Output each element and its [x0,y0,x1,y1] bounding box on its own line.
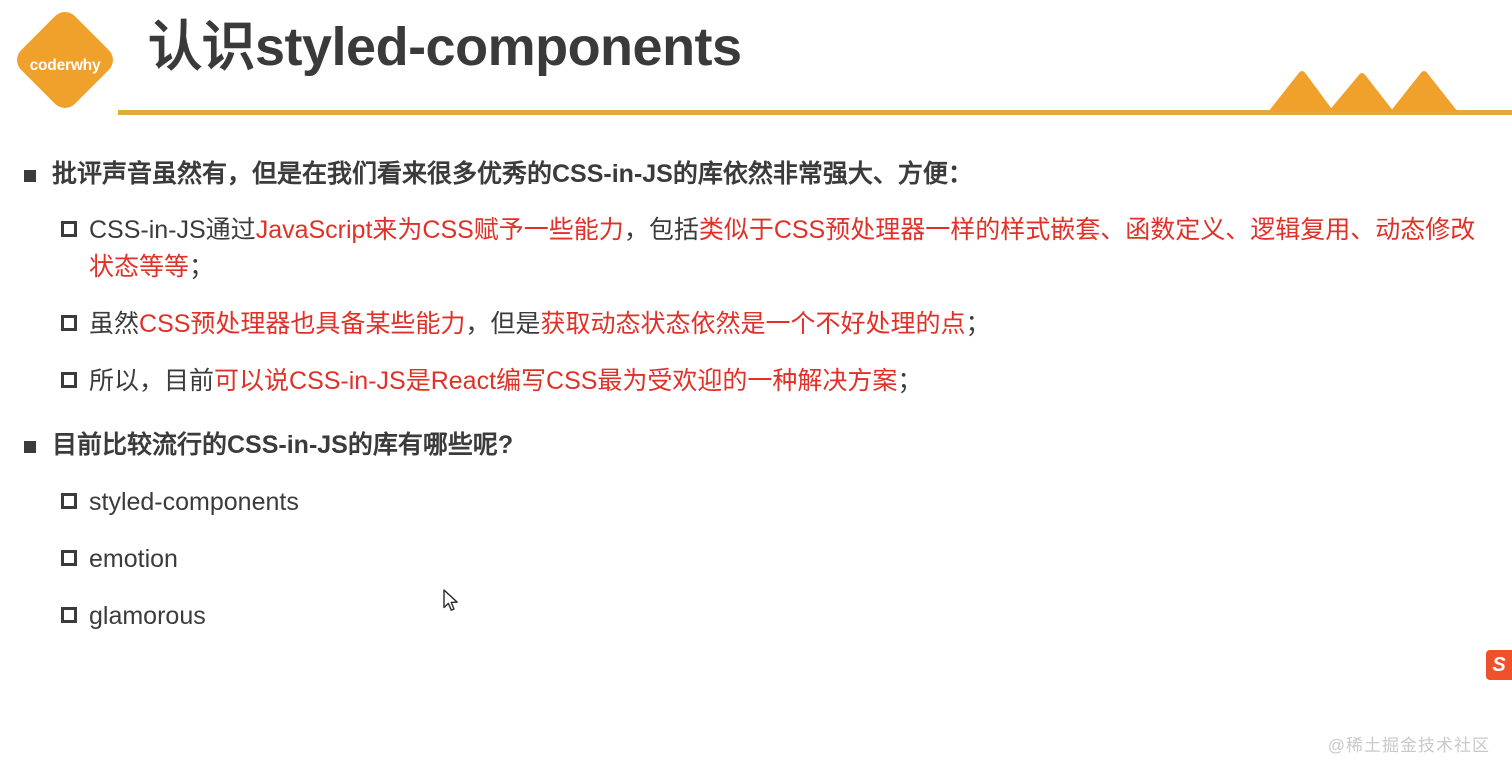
bullet-level2-cssinjs-javascript: CSS-in-JS通过JavaScript来为CSS赋予一些能力，包括类似于CS… [0,212,1512,285]
text-run: CSS-in-JS通过 [89,216,256,244]
square-bullet-icon [24,170,36,182]
bullet-level1-text: 目前比较流行的CSS-in-JS的库有哪些呢? [52,431,513,459]
bullet-level1-popular-libraries: 目前比较流行的CSS-in-JS的库有哪些呢? [0,430,1512,461]
hollow-square-bullet-icon [61,607,77,623]
bullet-level2-glamorous: glamorous [0,598,1512,634]
hollow-square-bullet-icon [61,550,77,566]
hollow-square-bullet-icon [61,493,77,509]
bullet-level2-text: CSS-in-JS通过JavaScript来为CSS赋予一些能力，包括类似于CS… [89,216,1475,280]
text-run: emotion [89,545,178,573]
text-run: 虽然 [89,310,139,338]
highlighted-text-run: 可以说CSS-in-JS是React编写CSS最为受欢迎的一种解决方案 [214,367,897,395]
bullet-level2-styled-components: styled-components [0,484,1512,520]
bullet-level2-text: 所以，目前可以说CSS-in-JS是React编写CSS最为受欢迎的一种解决方案… [89,367,922,395]
bullet-level2-preprocessor: 虽然CSS预处理器也具备某些能力，但是获取动态状态依然是一个不好处理的点； [0,306,1512,342]
coderwhy-logo: coderwhy [13,8,117,112]
text-run: ； [189,253,214,281]
hollow-square-bullet-icon [61,221,77,237]
hollow-square-bullet-icon [61,315,77,331]
sogou-input-badge-icon: S [1486,650,1512,680]
text-run: ，但是 [465,310,540,338]
page-title: 认识styled-components [148,18,742,77]
highlighted-text-run: 获取动态状态依然是一个不好处理的点 [540,310,965,338]
text-run: ； [897,367,922,395]
text-run: ； [965,310,990,338]
bullet-level1-criticism: 批评声音虽然有，但是在我们看来很多优秀的CSS-in-JS的库依然非常强大、方便… [0,159,1512,190]
bullet-level2-text: glamorous [89,602,206,630]
hollow-square-bullet-icon [61,372,77,388]
logo-text: coderwhy [13,58,117,74]
text-run: styled-components [89,488,299,516]
highlighted-text-run: CSS预处理器也具备某些能力 [139,310,465,338]
text-run: 所以，目前 [89,367,214,395]
text-run: glamorous [89,602,206,630]
slide-content: 批评声音虽然有，但是在我们看来很多优秀的CSS-in-JS的库依然非常强大、方便… [0,140,1512,634]
square-bullet-icon [24,441,36,453]
watermark: @稀土掘金技术社区 [1328,731,1490,756]
highlighted-text-run: JavaScript来为CSS赋予一些能力 [256,216,624,244]
bullet-level2-text: styled-components [89,488,299,516]
bullet-level1-text: 批评声音虽然有，但是在我们看来很多优秀的CSS-in-JS的库依然非常强大、方便… [52,160,973,188]
mountains-decoration [1268,66,1458,112]
slide-header: coderwhy 认识styled-components [0,0,1512,122]
bullet-level2-emotion: emotion [0,541,1512,577]
text-run: ，包括 [624,216,699,244]
bullet-level2-text: emotion [89,545,178,573]
bullet-level2-popular-solution: 所以，目前可以说CSS-in-JS是React编写CSS最为受欢迎的一种解决方案… [0,363,1512,399]
bullet-level2-text: 虽然CSS预处理器也具备某些能力，但是获取动态状态依然是一个不好处理的点； [89,310,990,338]
